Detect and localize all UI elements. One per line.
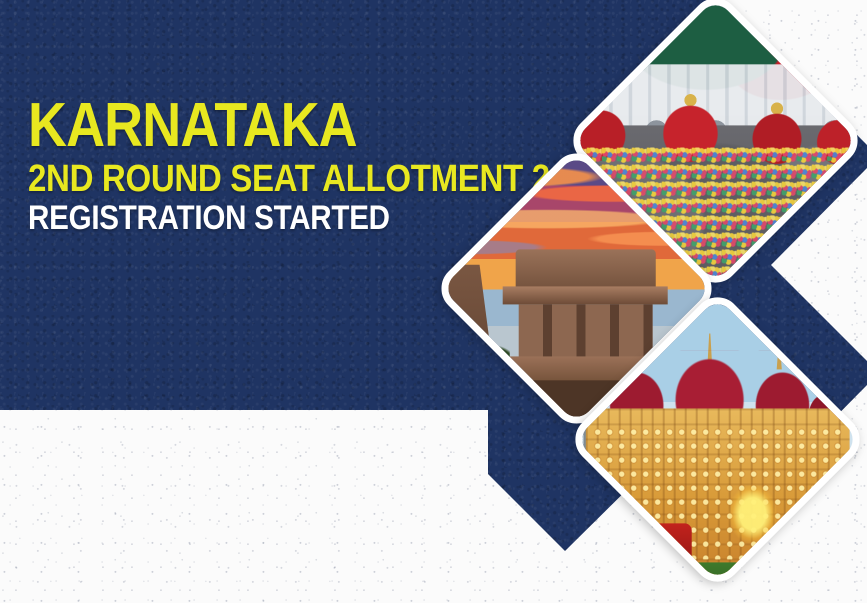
headline-line-1: KARNATAKA [28,96,480,157]
headline-block: KARNATAKA 2ND ROUND SEAT ALLOTMENT 2023 … [28,96,548,235]
headline-line-2: 2ND ROUND SEAT ALLOTMENT 2023 [28,160,480,199]
chariot-pillars-shape [518,304,652,359]
chariot-roof-shape [515,249,656,289]
karnataka-allotment-banner: KARNATAKA 2ND ROUND SEAT ALLOTMENT 2023 … [0,0,867,603]
headline-line-3: REGISTRATION STARTED [28,201,480,236]
chariot-cornice-shape [503,285,668,303]
